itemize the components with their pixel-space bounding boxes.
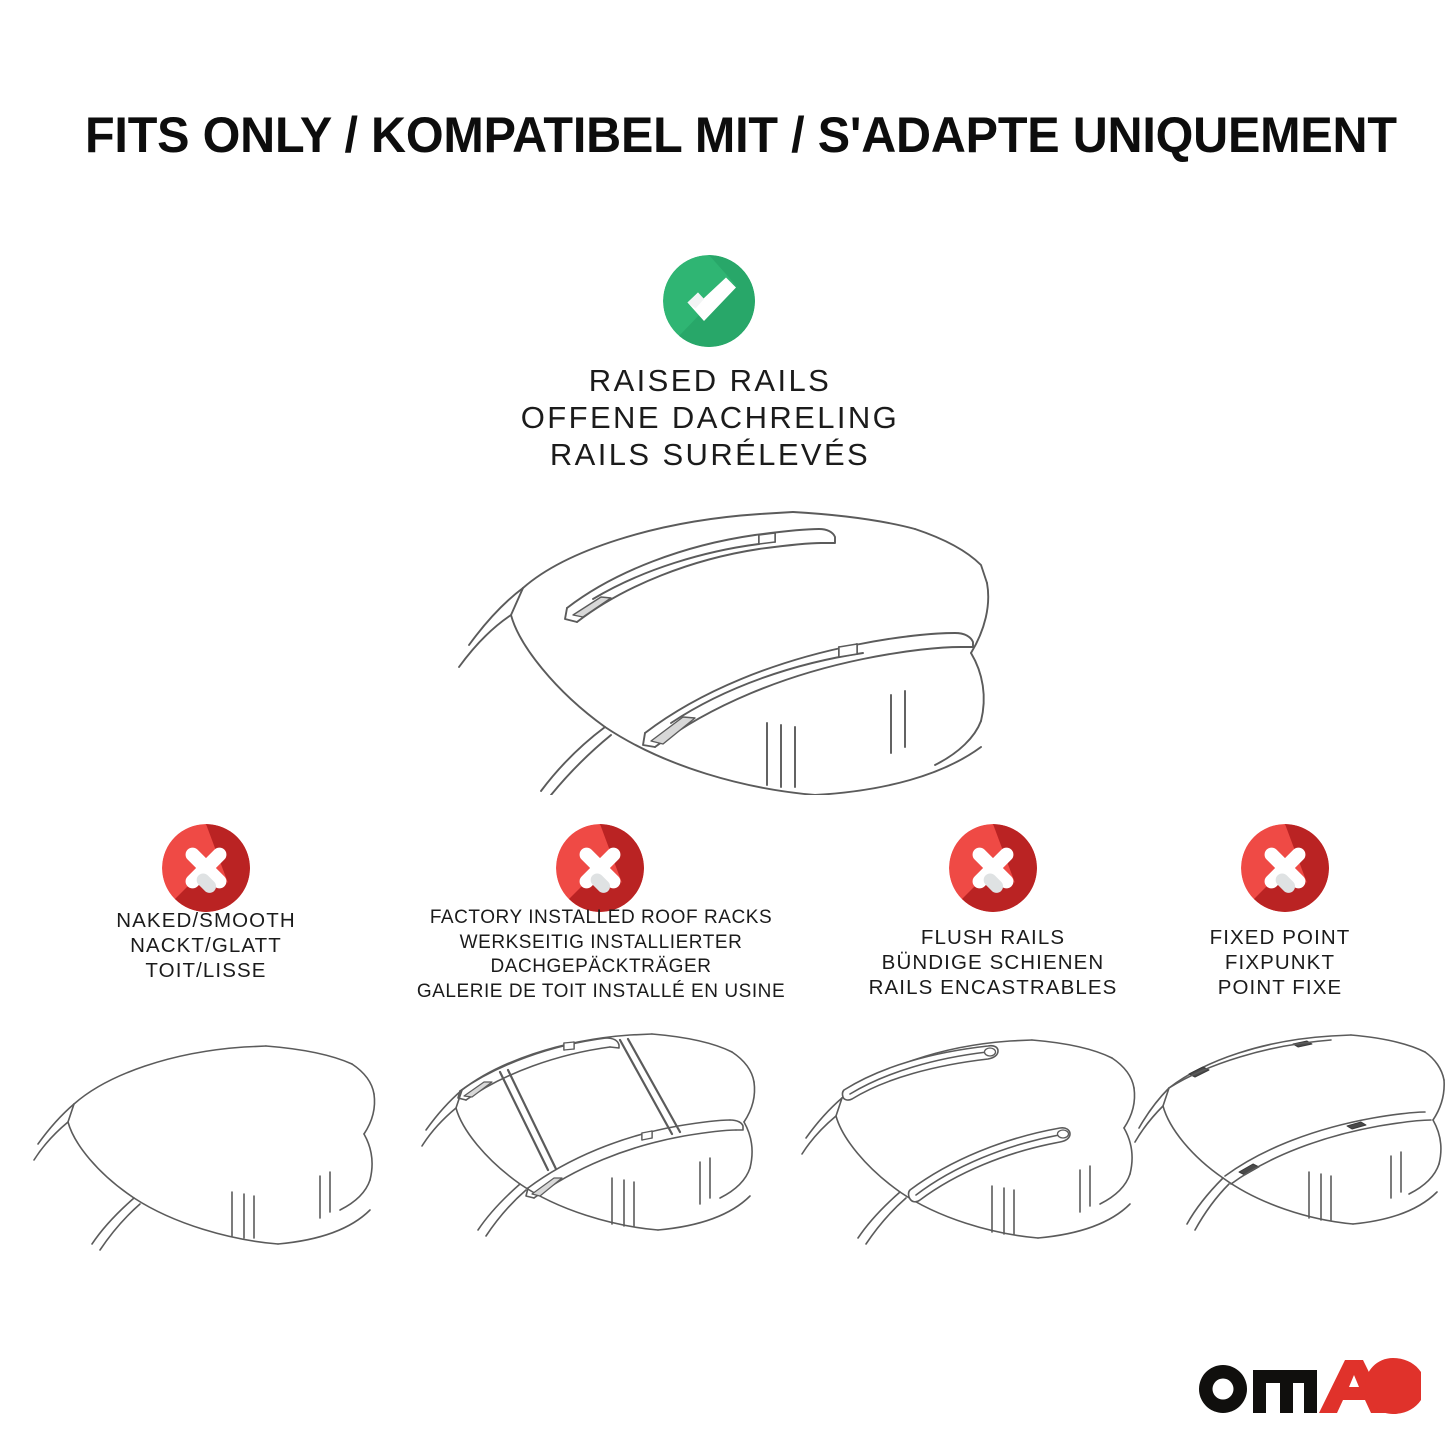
incompatible-flush-line-2: BÜNDIGE SCHIENEN [818, 950, 1168, 975]
incompatible-factory-line-4: GALERIE DE TOIT INSTALLÉ EN USINE [370, 980, 832, 1005]
car-roof-factory-racks-illustration [402, 1012, 762, 1252]
incompatible-factory-line-1: FACTORY INSTALLED ROOF RACKS [370, 906, 832, 931]
incompatible-naked-line-1: NAKED/SMOOTH [20, 908, 392, 933]
incompatible-naked-line-2: NACKT/GLATT [20, 933, 392, 958]
incompatible-flush-line-3: RAILS ENCASTRABLES [818, 975, 1168, 1000]
incompatible-fixed-line-1: FIXED POINT [1130, 925, 1430, 950]
incompatible-factory-line-2: WERKSEITIG INSTALLIERTER [370, 931, 832, 956]
infographic-page: FITS ONLY / KOMPATIBEL MIT / S'ADAPTE UN… [0, 0, 1445, 1445]
incompatible-label-flush-rails: FLUSH RAILS BÜNDIGE SCHIENEN RAILS ENCAS… [818, 925, 1168, 1000]
compatible-label-line-2: OFFENE DACHRELING [315, 399, 1105, 436]
page-title: FITS ONLY / KOMPATIBEL MIT / S'ADAPTE UN… [85, 106, 1336, 164]
car-roof-raised-rails-illustration [415, 495, 1025, 795]
incompatible-factory-line-3: DACHGEPÄCKTRÄGER [370, 955, 832, 980]
cross-circle-icon [1241, 824, 1329, 912]
car-roof-flush-rails-illustration [782, 1014, 1142, 1252]
incompatible-fixed-line-2: FIXPUNKT [1130, 950, 1430, 975]
car-roof-fixed-point-illustration [1133, 1014, 1445, 1252]
compatible-label: RAISED RAILS OFFENE DACHRELING RAILS SUR… [315, 362, 1105, 473]
compatible-label-line-3: RAILS SURÉLEVÉS [315, 436, 1105, 473]
incompatible-label-fixed-point: FIXED POINT FIXPUNKT POINT FIXE [1130, 925, 1430, 1000]
omac-logo [1193, 1356, 1423, 1416]
incompatible-label-naked-smooth: NAKED/SMOOTH NACKT/GLATT TOIT/LISSE [20, 908, 392, 983]
cross-circle-icon [556, 824, 644, 912]
cross-circle-icon [949, 824, 1037, 912]
car-roof-naked-smooth-illustration [22, 1022, 382, 1252]
incompatible-fixed-line-3: POINT FIXE [1130, 975, 1430, 1000]
compatible-label-line-1: RAISED RAILS [315, 362, 1105, 399]
incompatible-label-factory-racks: FACTORY INSTALLED ROOF RACKS WERKSEITIG … [370, 906, 832, 1004]
cross-circle-icon [162, 824, 250, 912]
incompatible-naked-line-3: TOIT/LISSE [20, 958, 392, 983]
check-circle-icon [663, 255, 755, 347]
incompatible-flush-line-1: FLUSH RAILS [818, 925, 1168, 950]
